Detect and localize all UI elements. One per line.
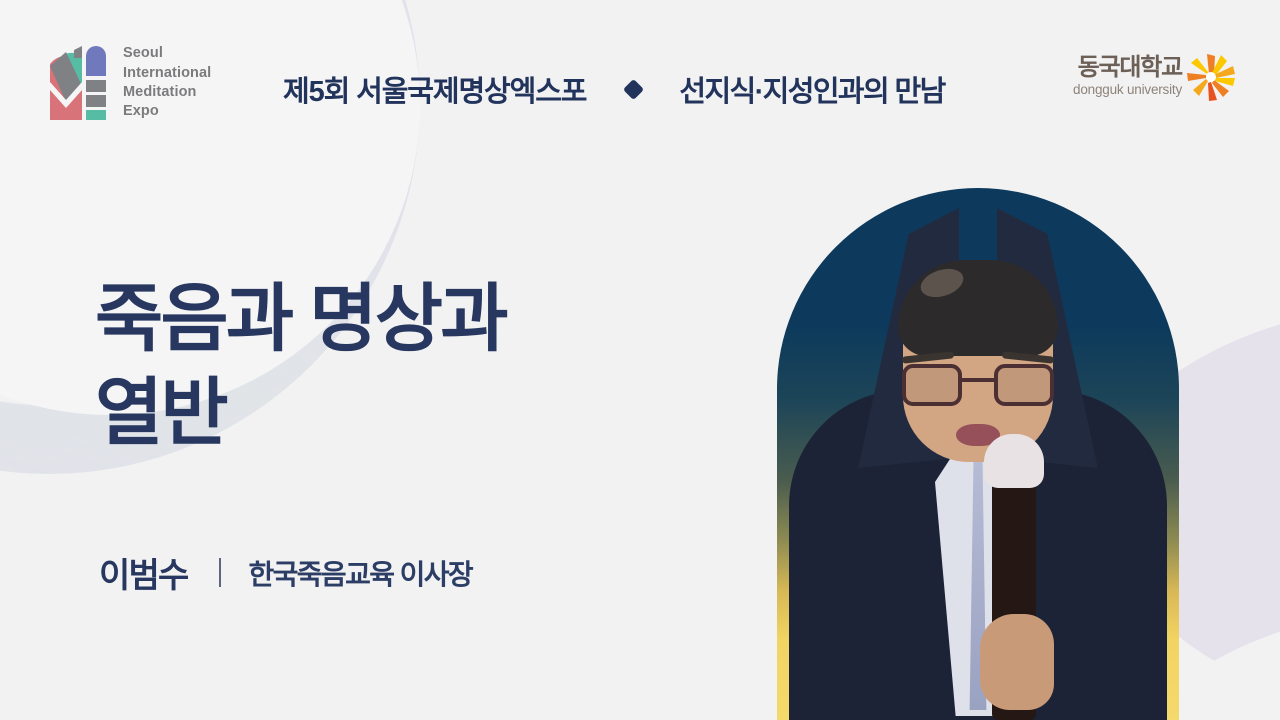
diamond-separator-icon [623, 78, 644, 99]
lecture-title-line-2: 열반 [95, 366, 506, 460]
microphone-head [984, 434, 1044, 488]
dongguk-name-en: dongguk university [1073, 82, 1182, 97]
glasses-lens-left [902, 364, 962, 406]
lecture-title: 죽음과 명상과 열반 [95, 272, 506, 460]
glasses-bridge [962, 378, 994, 382]
dongguk-university-logo: 동국대학교 dongguk university [1073, 52, 1238, 102]
header: Seoul International Meditation Expo 제5회 … [0, 0, 1280, 150]
expo-logo-line-4: Expo [123, 103, 159, 119]
portrait-glasses [902, 364, 1054, 408]
speaker-name: 이범수 [99, 548, 187, 597]
seoul-international-meditation-expo-mark-icon [48, 42, 110, 124]
speaker-role: 한국죽음교육 이사장 [248, 553, 472, 593]
lecture-title-line-1: 죽음과 명상과 [95, 272, 506, 366]
speaker-credit: 이범수 한국죽음교육 이사장 [99, 548, 472, 597]
expo-logo-line-3: Meditation [123, 84, 197, 100]
expo-logo: Seoul International Meditation Expo [48, 42, 211, 124]
event-title-bar: 제5회 서울국제명상엑스포 선지식·지성인과의 만남 [283, 68, 945, 110]
event-name: 제5회 서울국제명상엑스포 [283, 68, 586, 110]
speaker-divider [219, 558, 221, 587]
glasses-lens-right [994, 364, 1054, 406]
portrait-hand [980, 614, 1054, 710]
dongguk-name-ko: 동국대학교 [1078, 54, 1182, 81]
expo-logo-line-1: Seoul [123, 45, 163, 61]
dongguk-wordmark: 동국대학교 dongguk university [1073, 55, 1182, 99]
speaker-portrait [777, 188, 1179, 720]
dongguk-flower-emblem-icon [1184, 52, 1238, 102]
event-subtitle: 선지식·지성인과의 만남 [679, 68, 944, 110]
expo-logo-wordmark: Seoul International Meditation Expo [123, 44, 211, 122]
expo-logo-line-2: International [123, 65, 211, 81]
